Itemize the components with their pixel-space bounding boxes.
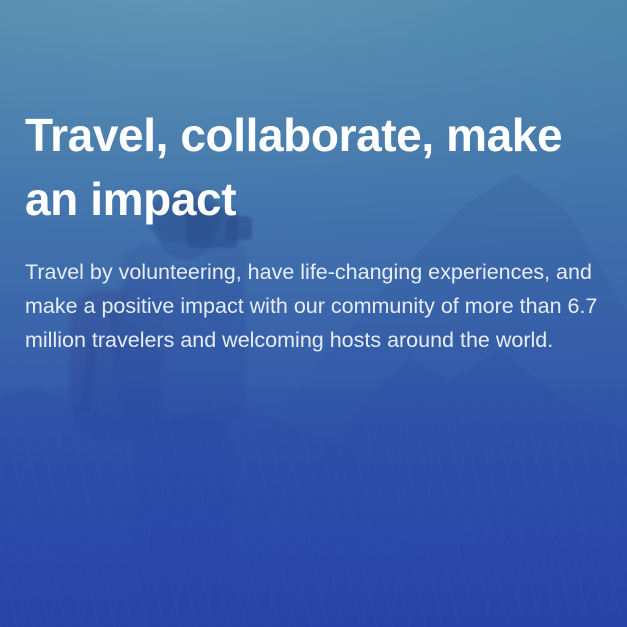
hero-banner: Travel, collaborate, make an impact Trav…	[0, 0, 627, 627]
hero-description: Travel by volunteering, have life-changi…	[25, 255, 602, 357]
hero-title: Travel, collaborate, make an impact	[25, 103, 595, 231]
hero-content: Travel, collaborate, make an impact Trav…	[0, 0, 627, 357]
